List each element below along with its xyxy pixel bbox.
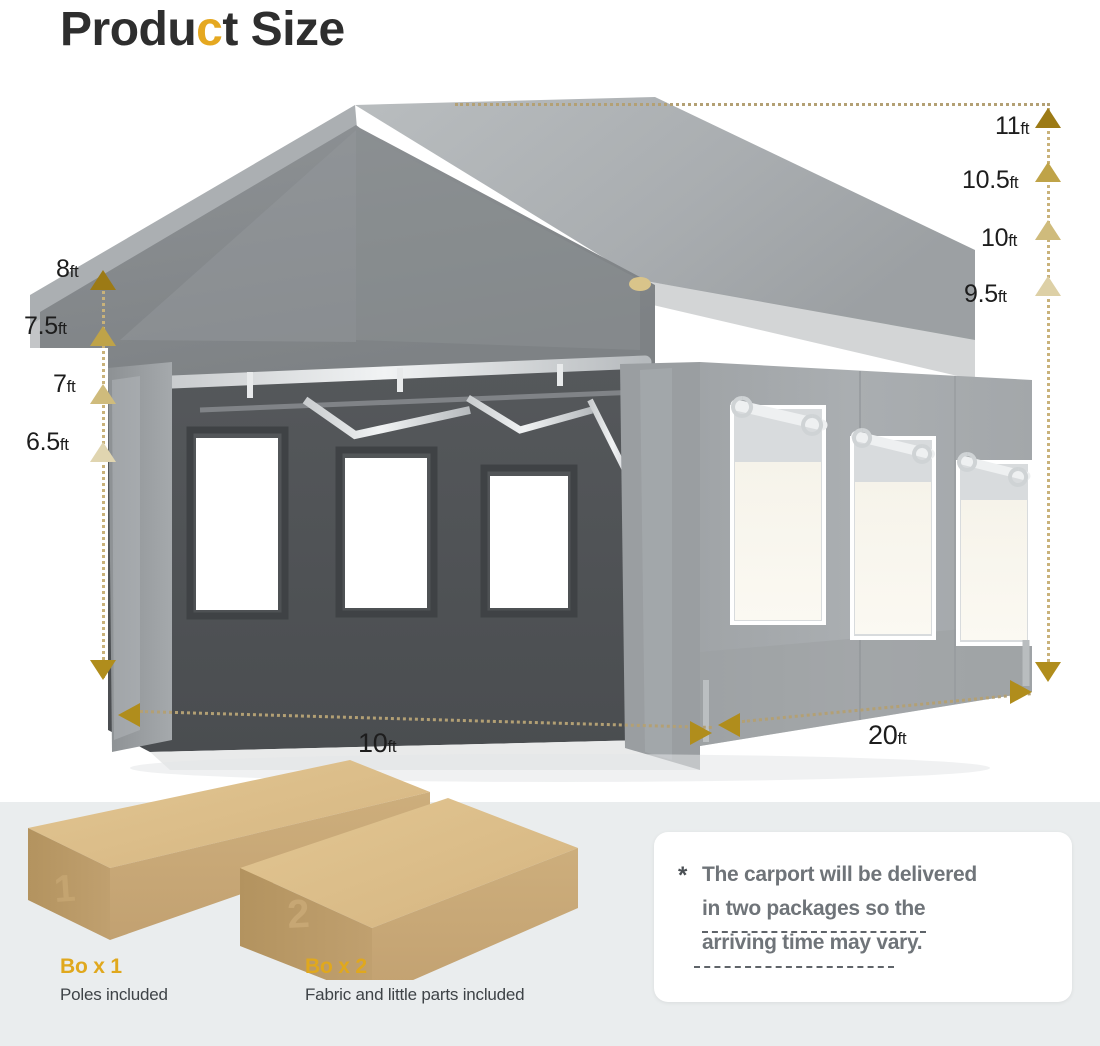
dim-value: 20 [868,720,897,750]
dimension-label-right-9_5ft: 9.5ft [964,280,1007,309]
carport-illustration: 11ft 10.5ft 10ft 9.5ft 8ft 7.5ft [0,80,1100,802]
dimension-arrow-front-left [118,703,140,727]
title-part-before: Produ [60,3,196,56]
dim-unit: ft [897,729,906,748]
package-1-caption: Bo x 1 Poles included [60,955,168,1005]
dimension-arrow-side-right [1010,680,1032,704]
interior-window-1 [196,438,278,610]
dim-value: 11 [995,112,1020,140]
box-2-number: 2 [286,892,311,937]
dim-unit: ft [1009,173,1018,192]
note-line-3: arriving time may vary. [702,926,1052,960]
dim-unit: ft [1020,119,1029,138]
side-window-1 [735,462,821,620]
side-window-3 [961,500,1027,640]
dim-unit: ft [1008,231,1017,250]
dim-value: 9.5 [964,280,998,308]
dimension-line-right [1047,108,1050,668]
interior-window-3 [490,476,568,608]
dimension-arrow-left-8ft [90,270,116,290]
note-line-2: in two packages so the [702,892,1052,926]
delivery-note-card: * The carport will be delivered in two p… [654,832,1072,1002]
side-window-2 [855,482,931,634]
page-title: Product Size [60,2,345,57]
package-2-title: Bo x 2 [305,955,524,979]
dim-value: 10.5 [962,166,1009,194]
title-part-after: t Size [222,3,344,56]
dimension-label-right-10ft: 10ft [981,224,1017,253]
dimension-arrow-side-left [718,713,740,737]
dimension-arrow-right-10ft [1035,220,1061,240]
door-post-highlight [640,368,672,760]
dimension-arrow-left-7_5ft [90,326,116,346]
dim-unit: ft [70,262,79,281]
title-accent-letter: c [196,3,222,56]
dim-value: 10 [981,224,1008,252]
dimension-arrow-right-9_5ft [1035,276,1061,296]
package-1-subtitle: Poles included [60,985,168,1005]
dim-value: 7.5 [24,312,58,340]
boxes-svg: 1 2 [0,750,660,980]
product-size-infographic: Product Size [0,0,1100,1046]
dim-value: 8 [56,255,70,283]
left-curtain-highlight [112,376,140,740]
delivery-note-text: The carport will be delivered in two pac… [702,858,1052,961]
dimension-label-right-10_5ft: 10.5ft [962,166,1018,195]
package-boxes-illustration: 1 2 Bo x 1 Poles included Bo x 2 Fabric … [0,750,660,980]
dimension-arrow-right-10_5ft [1035,162,1061,182]
dim-value: 7 [53,370,67,398]
dim-unit: ft [998,287,1007,306]
package-2-subtitle: Fabric and little parts included [305,985,524,1005]
dimension-arrow-left-7ft [90,384,116,404]
roof-peak-knob [629,277,651,291]
dimension-label-left-7_5ft: 7.5ft [24,312,67,341]
dimension-label-side-20ft: 20ft [868,720,906,751]
dimension-arrow-left-bottom [90,660,116,680]
dimension-label-left-7ft: 7ft [53,370,75,399]
dim-unit: ft [60,435,69,454]
dimension-arrow-right-11ft [1035,108,1061,128]
box-1-number: 1 [53,868,77,911]
dimension-label-right-11ft: 11ft [995,112,1029,141]
dimension-arrow-front-right [690,721,712,745]
dimension-arrow-left-6_5ft [90,442,116,462]
interior-window-2 [345,458,427,608]
dimension-label-left-6_5ft: 6.5ft [26,428,69,457]
dim-value: 6.5 [26,428,60,456]
dimension-arrow-right-bottom [1035,662,1061,682]
package-1-title: Bo x 1 [60,955,168,979]
package-2-caption: Bo x 2 Fabric and little parts included [305,955,524,1005]
note-asterisk-icon: * [678,864,687,888]
guide-line-roof-top [455,103,1050,106]
dim-unit: ft [67,377,76,396]
carport-svg [0,80,1100,802]
note-line-1: The carport will be delivered [702,858,1052,892]
dim-unit: ft [58,319,67,338]
dimension-label-left-8ft: 8ft [56,255,78,284]
